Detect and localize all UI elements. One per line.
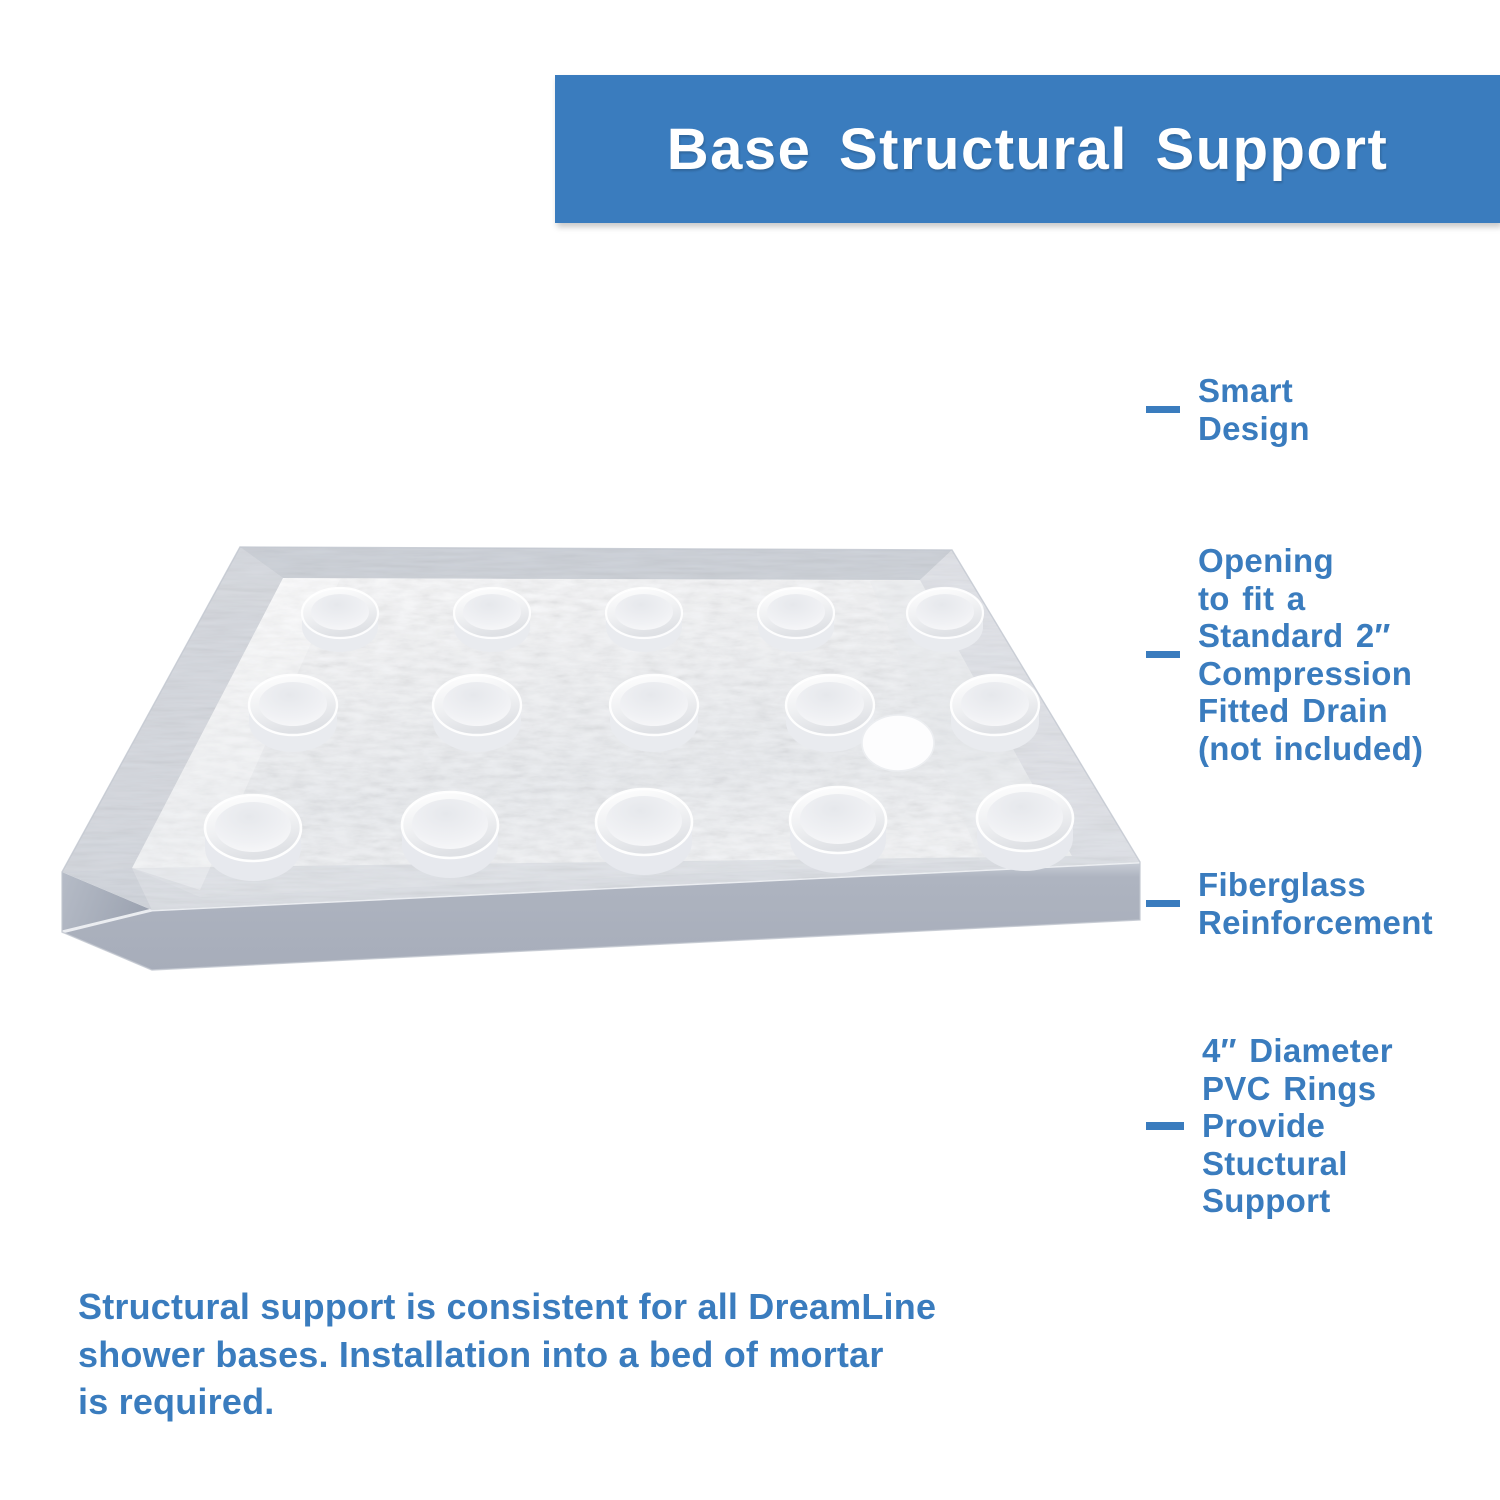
callout-drain-opening: Opening to fit a Standard 2″ Compression… xyxy=(1146,542,1423,768)
pvc-ring xyxy=(907,588,983,652)
pvc-ring xyxy=(758,588,834,652)
callout-pvc-rings-label: 4″ Diameter PVC Rings Provide Stuctural … xyxy=(1202,1032,1393,1220)
callout-smart-design-label: Smart Design xyxy=(1198,372,1310,447)
drain-opening xyxy=(862,715,934,771)
pvc-ring xyxy=(610,675,698,752)
pvc-ring xyxy=(606,588,682,652)
pvc-ring xyxy=(249,675,337,752)
callout-pvc-rings: 4″ Diameter PVC Rings Provide Stuctural … xyxy=(1146,1032,1393,1220)
pvc-ring xyxy=(951,675,1039,752)
pvc-ring xyxy=(977,785,1073,871)
pvc-ring xyxy=(786,675,874,752)
callout-dash-icon xyxy=(1146,900,1180,907)
header-banner: Base Structural Support xyxy=(555,75,1500,223)
pvc-ring xyxy=(790,787,886,873)
page-title: Base Structural Support xyxy=(667,116,1389,183)
callout-dash-icon xyxy=(1146,651,1180,658)
pvc-ring xyxy=(433,675,521,752)
callout-fiberglass: Fiberglass Reinforcement xyxy=(1146,866,1433,941)
shower-base-illustration xyxy=(40,500,1170,1000)
pvc-ring xyxy=(302,588,378,652)
callout-smart-design: Smart Design xyxy=(1146,372,1310,447)
callout-dash-icon xyxy=(1146,406,1180,413)
pvc-ring xyxy=(205,795,301,881)
callout-fiberglass-label: Fiberglass Reinforcement xyxy=(1198,866,1433,941)
callout-dash-icon xyxy=(1146,1122,1184,1130)
pvc-ring xyxy=(596,789,692,875)
callout-drain-opening-label: Opening to fit a Standard 2″ Compression… xyxy=(1198,542,1423,768)
footer-caption: Structural support is consistent for all… xyxy=(78,1283,978,1426)
pvc-ring xyxy=(454,588,530,652)
base-wall-back xyxy=(240,547,952,580)
pvc-ring xyxy=(402,792,498,878)
